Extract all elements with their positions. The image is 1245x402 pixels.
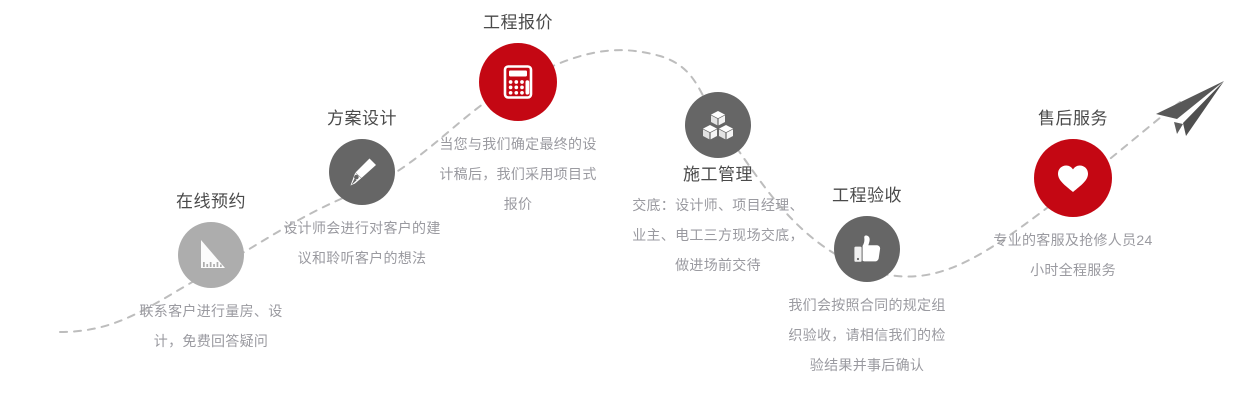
step-1-description: 联系客户进行量房、设计，免费回答疑问 (126, 296, 296, 356)
heart-icon (1052, 157, 1094, 199)
paper-plane-icon (1150, 78, 1228, 145)
step-2-badge[interactable] (329, 139, 395, 205)
step-2-description: 设计师会进行对客户的建议和聆听客户的想法 (277, 213, 447, 273)
thumbs-up-icon (847, 229, 887, 269)
step-3-badge[interactable] (479, 43, 557, 121)
step-2-scheme-design[interactable]: 方案设计 设计师会进行对客户的建议和聆听客户的想法 (277, 108, 447, 273)
step-4-construction-management[interactable]: 施工管理 交底：设计师、项目经理、业主、电工三方现场交底，做进场前交待 (629, 92, 807, 280)
step-5-title: 工程验收 (782, 185, 952, 207)
step-4-badge[interactable] (685, 92, 751, 158)
step-3-title: 工程报价 (433, 12, 603, 34)
step-6-after-sales-service[interactable]: 售后服务 专业的客服及抢修人员24小时全程服务 (988, 108, 1158, 285)
step-1-badge[interactable] (178, 222, 244, 288)
calculator-icon (497, 61, 539, 103)
step-5-project-acceptance[interactable]: 工程验收 我们会按照合同的规定组织验收，请相信我们的检验结果并事后确认 (782, 185, 952, 380)
step-1-online-booking[interactable]: 在线预约 联系客户进行量房、设计，免费回答疑问 (126, 191, 296, 356)
step-6-title: 售后服务 (988, 108, 1158, 130)
step-3-description: 当您与我们确定最终的设计稿后，我们采用项目式报价 (433, 129, 603, 219)
step-3-project-quotation[interactable]: 工程报价 (433, 12, 603, 219)
stacked-boxes-icon (698, 105, 738, 145)
step-5-description: 我们会按照合同的规定组织验收，请相信我们的检验结果并事后确认 (782, 290, 952, 380)
step-6-badge[interactable] (1034, 139, 1112, 217)
step-6-description: 专业的客服及抢修人员24小时全程服务 (988, 225, 1158, 285)
ruler-triangle-icon (191, 235, 231, 275)
step-4-description: 交底：设计师、项目经理、业主、电工三方现场交底，做进场前交待 (629, 190, 807, 280)
process-timeline-diagram: 在线预约 联系客户进行量房、设计，免费回答疑问 方案设计 (0, 0, 1245, 402)
step-5-badge[interactable] (834, 216, 900, 282)
step-4-title: 施工管理 (629, 164, 807, 186)
step-1-title: 在线预约 (126, 191, 296, 213)
step-2-title: 方案设计 (277, 108, 447, 130)
fountain-pen-icon (342, 152, 382, 192)
